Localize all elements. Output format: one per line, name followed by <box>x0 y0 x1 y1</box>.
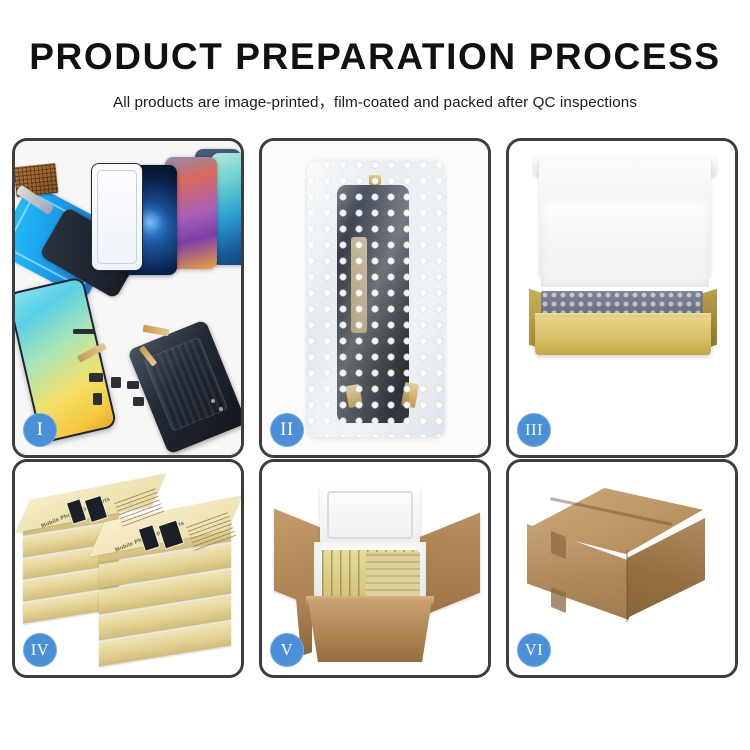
bubble-wrapped-screen-icon <box>262 141 488 455</box>
step-badge-2: II <box>270 413 304 447</box>
page-subtitle: All products are image-printed，film-coat… <box>0 90 750 112</box>
process-step-panel-6: VI <box>506 459 738 678</box>
screw-icon <box>219 407 223 411</box>
screw-icon <box>211 399 215 403</box>
chip-icon <box>111 377 121 388</box>
page-header: PRODUCT PREPARATION PROCESS All products… <box>0 0 750 112</box>
process-steps-grid: I II <box>12 138 738 678</box>
bubble-wrap-bag-icon <box>307 161 445 437</box>
step-badge-1: I <box>23 413 57 447</box>
process-step-panel-3: III <box>506 138 738 458</box>
tempered-glass-protector-icon <box>91 163 143 271</box>
step-badge-6: VI <box>517 633 551 667</box>
process-step-panel-5: V <box>259 459 491 678</box>
phone-parts-collage-icon <box>15 141 241 455</box>
chip-icon <box>127 381 139 389</box>
step-badge-5: V <box>270 633 304 667</box>
page-title: PRODUCT PREPARATION PROCESS <box>0 38 750 77</box>
packed-retail-boxes-icon <box>366 552 420 596</box>
carton-front-icon <box>308 600 432 662</box>
foam-cooler-lid-icon <box>320 484 420 546</box>
foam-sheet-icon <box>541 199 709 287</box>
chip-icon <box>73 329 95 334</box>
open-kraft-box-foam-icon <box>509 141 735 455</box>
process-step-panel-4: Mobile Phone Spare Parts Mobile Phone Sp… <box>12 459 244 678</box>
process-step-panel-1: I <box>12 138 244 458</box>
plastic-sheen-icon <box>307 161 445 437</box>
carton-edge-icon <box>626 550 628 622</box>
kraft-box-front-icon <box>535 317 711 355</box>
step-badge-3: III <box>517 413 551 447</box>
chip-icon <box>133 397 144 406</box>
chip-icon <box>93 393 102 405</box>
step-badge-4: IV <box>23 633 57 667</box>
chip-icon <box>89 373 103 382</box>
process-step-panel-2: II <box>259 138 491 458</box>
